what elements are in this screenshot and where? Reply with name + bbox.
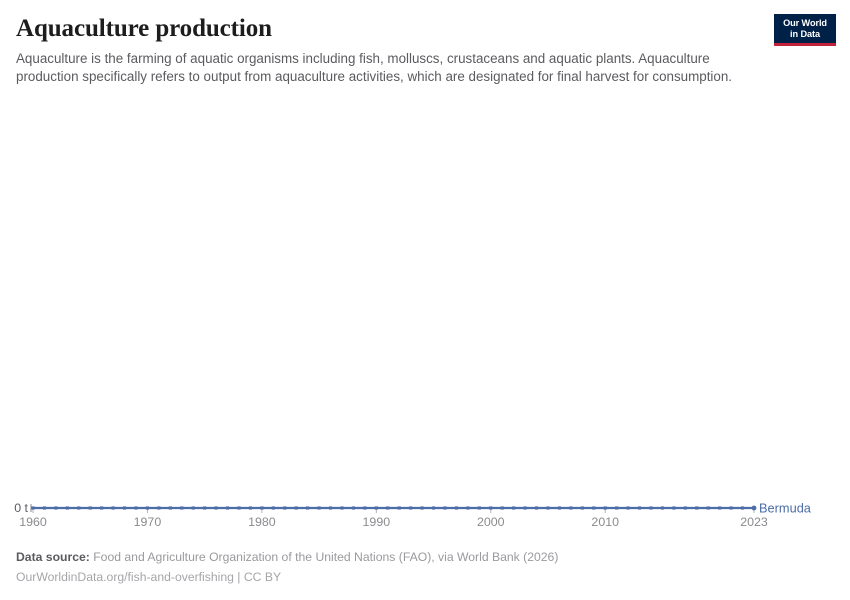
x-axis-label-1970: 1970	[134, 515, 162, 529]
chart-header: Aquaculture production Aquaculture is th…	[16, 14, 776, 87]
data-point-marker[interactable]	[398, 506, 401, 509]
data-point-marker[interactable]	[386, 506, 389, 509]
data-point-marker[interactable]	[306, 506, 309, 509]
data-point-marker[interactable]	[31, 506, 34, 509]
page-title: Aquaculture production	[16, 14, 776, 44]
data-point-marker[interactable]	[180, 506, 183, 509]
data-point-marker[interactable]	[615, 506, 618, 509]
chart-subtitle: Aquaculture is the farming of aquatic or…	[16, 50, 746, 87]
data-point-marker[interactable]	[741, 506, 744, 509]
data-point-marker[interactable]	[466, 506, 469, 509]
data-point-marker[interactable]	[226, 506, 229, 509]
data-point-marker[interactable]	[627, 506, 630, 509]
data-point-marker[interactable]	[638, 506, 641, 509]
data-point-marker[interactable]	[295, 506, 298, 509]
data-point-marker[interactable]	[54, 506, 57, 509]
data-point-marker[interactable]	[695, 506, 698, 509]
data-point-marker[interactable]	[43, 506, 46, 509]
attribution-line[interactable]: OurWorldinData.org/fish-and-overfishing …	[16, 567, 816, 587]
chart-footer: Data source: Food and Agriculture Organi…	[16, 547, 816, 587]
data-point-marker[interactable]	[558, 506, 561, 509]
data-source-label: Data source:	[16, 550, 90, 564]
data-point-marker[interactable]	[489, 506, 492, 509]
data-point-marker[interactable]	[237, 506, 240, 509]
data-point-marker[interactable]	[169, 506, 172, 509]
data-point-marker[interactable]	[672, 506, 675, 509]
data-point-marker[interactable]	[649, 506, 652, 509]
data-point-marker[interactable]	[272, 506, 275, 509]
data-point-marker[interactable]	[512, 506, 515, 509]
data-point-marker[interactable]	[318, 506, 321, 509]
logo-line-1: Our World	[778, 18, 832, 29]
data-point-marker[interactable]	[718, 506, 721, 509]
data-point-marker[interactable]	[249, 506, 252, 509]
data-point-marker[interactable]	[661, 506, 664, 509]
data-point-marker[interactable]	[707, 506, 710, 509]
data-point-marker[interactable]	[283, 506, 286, 509]
data-point-marker[interactable]	[730, 506, 733, 509]
x-axis-label-1960: 1960	[19, 515, 47, 529]
data-point-marker[interactable]	[581, 506, 584, 509]
data-point-marker[interactable]	[203, 506, 206, 509]
data-point-marker[interactable]	[524, 506, 527, 509]
data-point-marker[interactable]	[592, 506, 595, 509]
data-point-marker[interactable]	[329, 506, 332, 509]
logo-line-2: in Data	[778, 29, 832, 40]
data-point-marker[interactable]	[134, 506, 137, 509]
data-point-marker[interactable]	[432, 506, 435, 509]
data-point-marker[interactable]	[421, 506, 424, 509]
data-point-marker[interactable]	[684, 506, 687, 509]
data-point-marker[interactable]	[192, 506, 195, 509]
x-axis-label-1980: 1980	[248, 515, 276, 529]
data-point-marker[interactable]	[112, 506, 115, 509]
data-point-marker[interactable]	[569, 506, 572, 509]
x-axis-label-2000: 2000	[477, 515, 505, 529]
data-point-marker[interactable]	[157, 506, 160, 509]
line-chart[interactable]: 0 t1960197019801990200020102023Bermuda	[0, 104, 850, 534]
data-point-marker[interactable]	[260, 506, 263, 509]
data-source-value: Food and Agriculture Organization of the…	[93, 550, 558, 564]
data-point-marker[interactable]	[363, 506, 366, 509]
series-end-marker[interactable]	[752, 506, 757, 511]
data-point-marker[interactable]	[478, 506, 481, 509]
data-point-marker[interactable]	[340, 506, 343, 509]
data-point-marker[interactable]	[100, 506, 103, 509]
our-world-in-data-logo[interactable]: Our World in Data	[774, 14, 836, 46]
data-point-marker[interactable]	[77, 506, 80, 509]
chart-page: Aquaculture production Aquaculture is th…	[0, 0, 850, 600]
data-point-marker[interactable]	[455, 506, 458, 509]
data-point-marker[interactable]	[546, 506, 549, 509]
x-axis-label-2023: 2023	[740, 515, 768, 529]
series-label-bermuda[interactable]: Bermuda	[759, 501, 812, 516]
data-point-marker[interactable]	[146, 506, 149, 509]
data-point-marker[interactable]	[215, 506, 218, 509]
data-point-marker[interactable]	[89, 506, 92, 509]
data-point-marker[interactable]	[535, 506, 538, 509]
x-axis-label-2010: 2010	[591, 515, 619, 529]
chart-plot-area[interactable]: 0 t1960197019801990200020102023Bermuda	[0, 104, 850, 534]
data-source-line: Data source: Food and Agriculture Organi…	[16, 547, 816, 567]
data-point-marker[interactable]	[66, 506, 69, 509]
data-point-marker[interactable]	[123, 506, 126, 509]
data-point-marker[interactable]	[443, 506, 446, 509]
data-point-marker[interactable]	[501, 506, 504, 509]
x-axis-label-1990: 1990	[363, 515, 391, 529]
data-point-marker[interactable]	[375, 506, 378, 509]
y-axis-label-0: 0 t	[14, 501, 28, 515]
data-point-marker[interactable]	[409, 506, 412, 509]
data-point-marker[interactable]	[604, 506, 607, 509]
data-point-marker[interactable]	[352, 506, 355, 509]
